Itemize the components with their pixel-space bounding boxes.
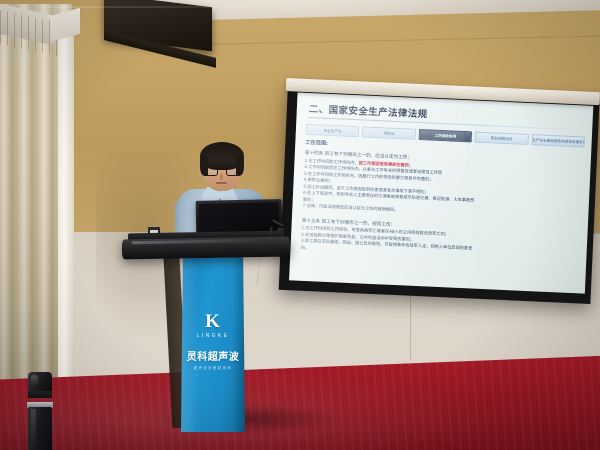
brand-name-en: LINGKE (181, 333, 245, 339)
brand-name-cn: 灵科超声波 (181, 348, 245, 363)
lectern-branded-panel: K LINGKE 灵科超声波 超声波设备制造商 (181, 256, 245, 432)
slide-tab-3-active[interactable]: 工伤保险条例 (418, 129, 472, 142)
presenter-hair-left (200, 155, 208, 175)
lectern-desktop (122, 237, 290, 260)
thermos-body (28, 407, 52, 450)
projection-screen: 二、国家安全生产法律法规 安全生产法 消防法 工伤保险条例 职业病防治法 生产安… (279, 84, 600, 304)
photo-scene: 二、国家安全生产法律法规 安全生产法 消防法 工伤保险条例 职业病防治法 生产安… (0, 0, 600, 450)
slide: 二、国家安全生产法律法规 安全生产法 消防法 工伤保险条例 职业病防治法 生产安… (289, 92, 593, 293)
thermos-neck (28, 391, 52, 398)
k-logo-icon: K (181, 312, 245, 331)
thermos-cap (28, 372, 52, 392)
brand-tagline: 超声波设备制造商 (181, 365, 245, 370)
wall-pillar-edge (58, 30, 74, 422)
black-thermos-bottle[interactable] (26, 372, 54, 450)
laptop-screen-glint (48, 6, 324, 8)
slide-block-article-14: 第十四条 职工有下列情形之一的，应当认定为工伤： 1.在工作时间和工作场所内，因… (302, 150, 583, 222)
presenter-hair-right (236, 155, 244, 175)
slide-tab-1[interactable]: 安全生产法 (306, 124, 360, 137)
slide-tab-4[interactable]: 职业病防治法 (475, 132, 529, 145)
slide-tab-2[interactable]: 消防法 (362, 127, 416, 140)
projection-screen-surface: 二、国家安全生产法律法规 安全生产法 消防法 工伤保险条例 职业病防治法 生产安… (289, 92, 593, 293)
lingke-brand-lockup: K LINGKE 灵科超声波 超声波设备制造商 (181, 312, 245, 370)
slide-tab-5[interactable]: 生产安全事故报告和调查处理条例 (531, 134, 585, 147)
